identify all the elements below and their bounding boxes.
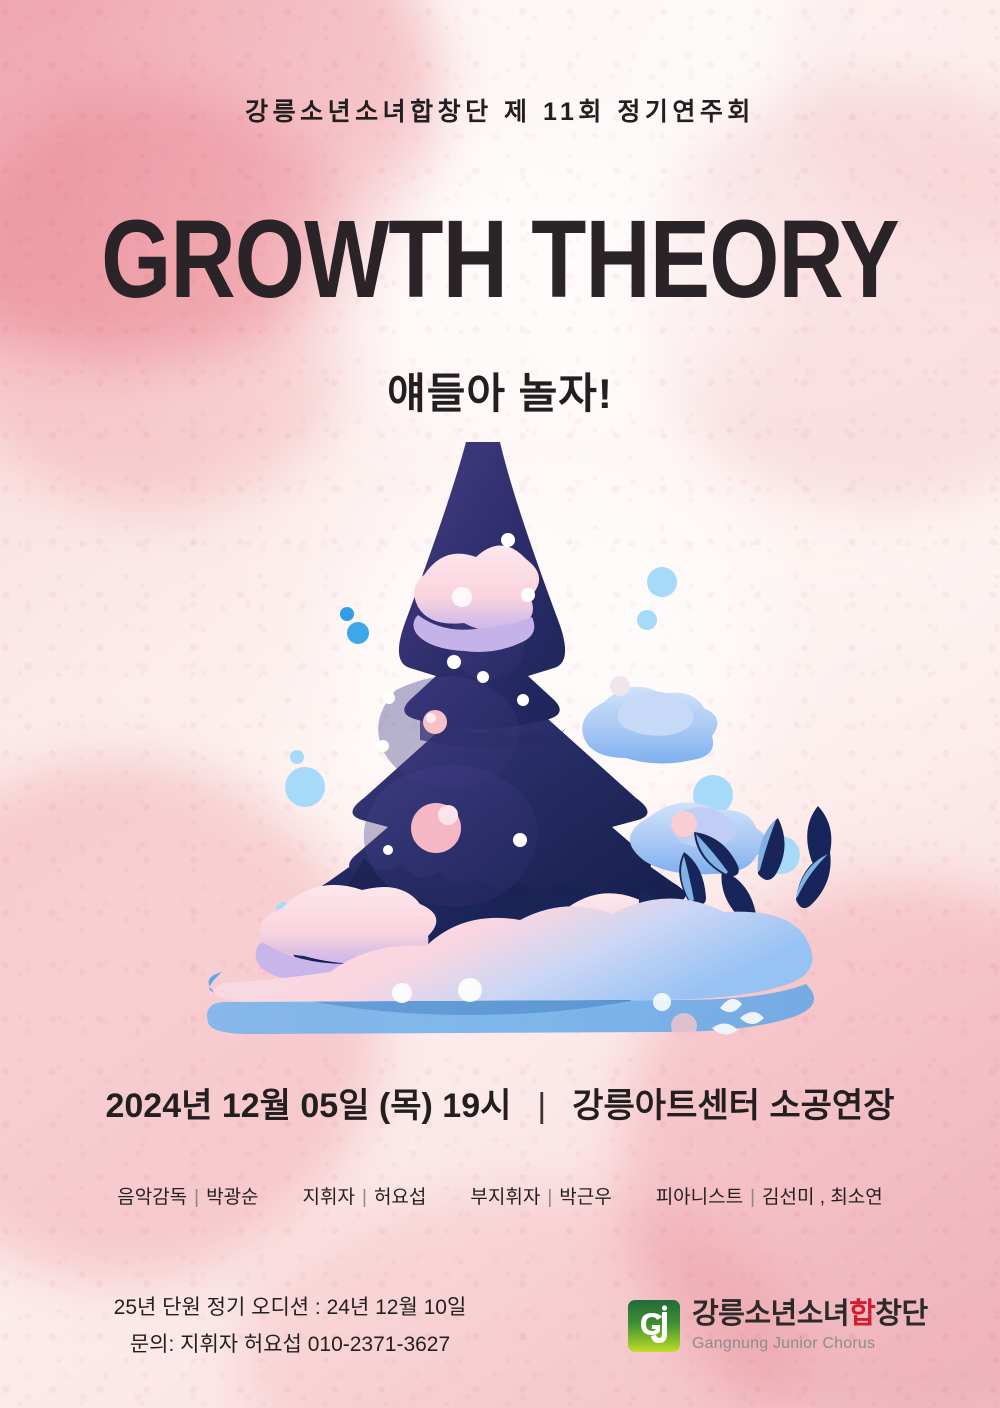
credit-role: 지휘자 bbox=[303, 1187, 355, 1208]
logo-text-block: 강릉소년소녀합창단 Gangnung Junior Chorus bbox=[692, 1300, 928, 1352]
credit-name: 박근우 bbox=[559, 1187, 611, 1208]
logo-kr-highlight: 합 bbox=[849, 1298, 875, 1330]
credit-role: 음악감독 bbox=[117, 1187, 187, 1208]
credit-role: 피아니스트 bbox=[656, 1187, 743, 1208]
venue-text: 강릉아트센터 소공연장 bbox=[572, 1087, 894, 1125]
logo-english-name: Gangnung Junior Chorus bbox=[692, 1336, 928, 1352]
credit-bar: | bbox=[743, 1187, 762, 1208]
credit-music-director: 음악감독|박광순 bbox=[117, 1182, 258, 1209]
poster-eyebrow: 강릉소년소녀합창단 제 11회 정기연주회 bbox=[0, 92, 1000, 128]
credit-name: 허요섭 bbox=[374, 1187, 426, 1208]
credit-bar: | bbox=[540, 1187, 559, 1208]
credit-bar: | bbox=[355, 1187, 374, 1208]
credit-name: 박광순 bbox=[206, 1187, 258, 1208]
audition-note: 25년 단원 정기 오디션 : 24년 12월 10일 bbox=[60, 1290, 520, 1327]
logo-kr-part2: 창단 bbox=[875, 1298, 927, 1330]
divider-pipe: | bbox=[511, 1087, 572, 1126]
chorus-logo: 강릉소년소녀합창단 Gangnung Junior Chorus bbox=[628, 1300, 928, 1352]
credit-bar: | bbox=[187, 1187, 206, 1208]
logo-kr-part1: 강릉소년소녀 bbox=[692, 1298, 849, 1330]
credits-row: 음악감독|박광순 지휘자|허요섭 부지휘자|박근우 피아니스트|김선미 , 최소… bbox=[0, 1182, 1000, 1209]
credit-role: 부지휘자 bbox=[470, 1187, 540, 1208]
poster-subtitle: 얘들아 놀자! bbox=[0, 360, 1000, 421]
date-time-text: 2024년 12월 05일 (목) 19시 bbox=[105, 1087, 511, 1125]
winter-tree-illustration bbox=[0, 430, 1000, 1070]
credit-pianists: 피아니스트|김선미 , 최소연 bbox=[656, 1182, 883, 1209]
logo-korean-name: 강릉소년소녀합창단 bbox=[692, 1300, 928, 1329]
credit-assistant-conductor: 부지휘자|박근우 bbox=[470, 1182, 611, 1209]
credit-conductor: 지휘자|허요섭 bbox=[303, 1182, 427, 1209]
contact-note: 문의: 지휘자 허요섭 010-2371-3627 bbox=[60, 1327, 520, 1364]
poster-canvas: 강릉소년소녀합창단 제 11회 정기연주회 GROWTH THEORY 얘들아 … bbox=[0, 0, 1000, 1408]
date-venue-bar: 2024년 12월 05일 (목) 19시|강릉아트센터 소공연장 bbox=[0, 1078, 1000, 1127]
poster-title: GROWTH THEORY bbox=[90, 205, 910, 315]
credit-name: 김선미 , 최소연 bbox=[762, 1187, 883, 1208]
gj-monogram-icon bbox=[628, 1300, 680, 1352]
bottom-notes: 25년 단원 정기 오디션 : 24년 12월 10일 문의: 지휘자 허요섭 … bbox=[60, 1290, 520, 1364]
